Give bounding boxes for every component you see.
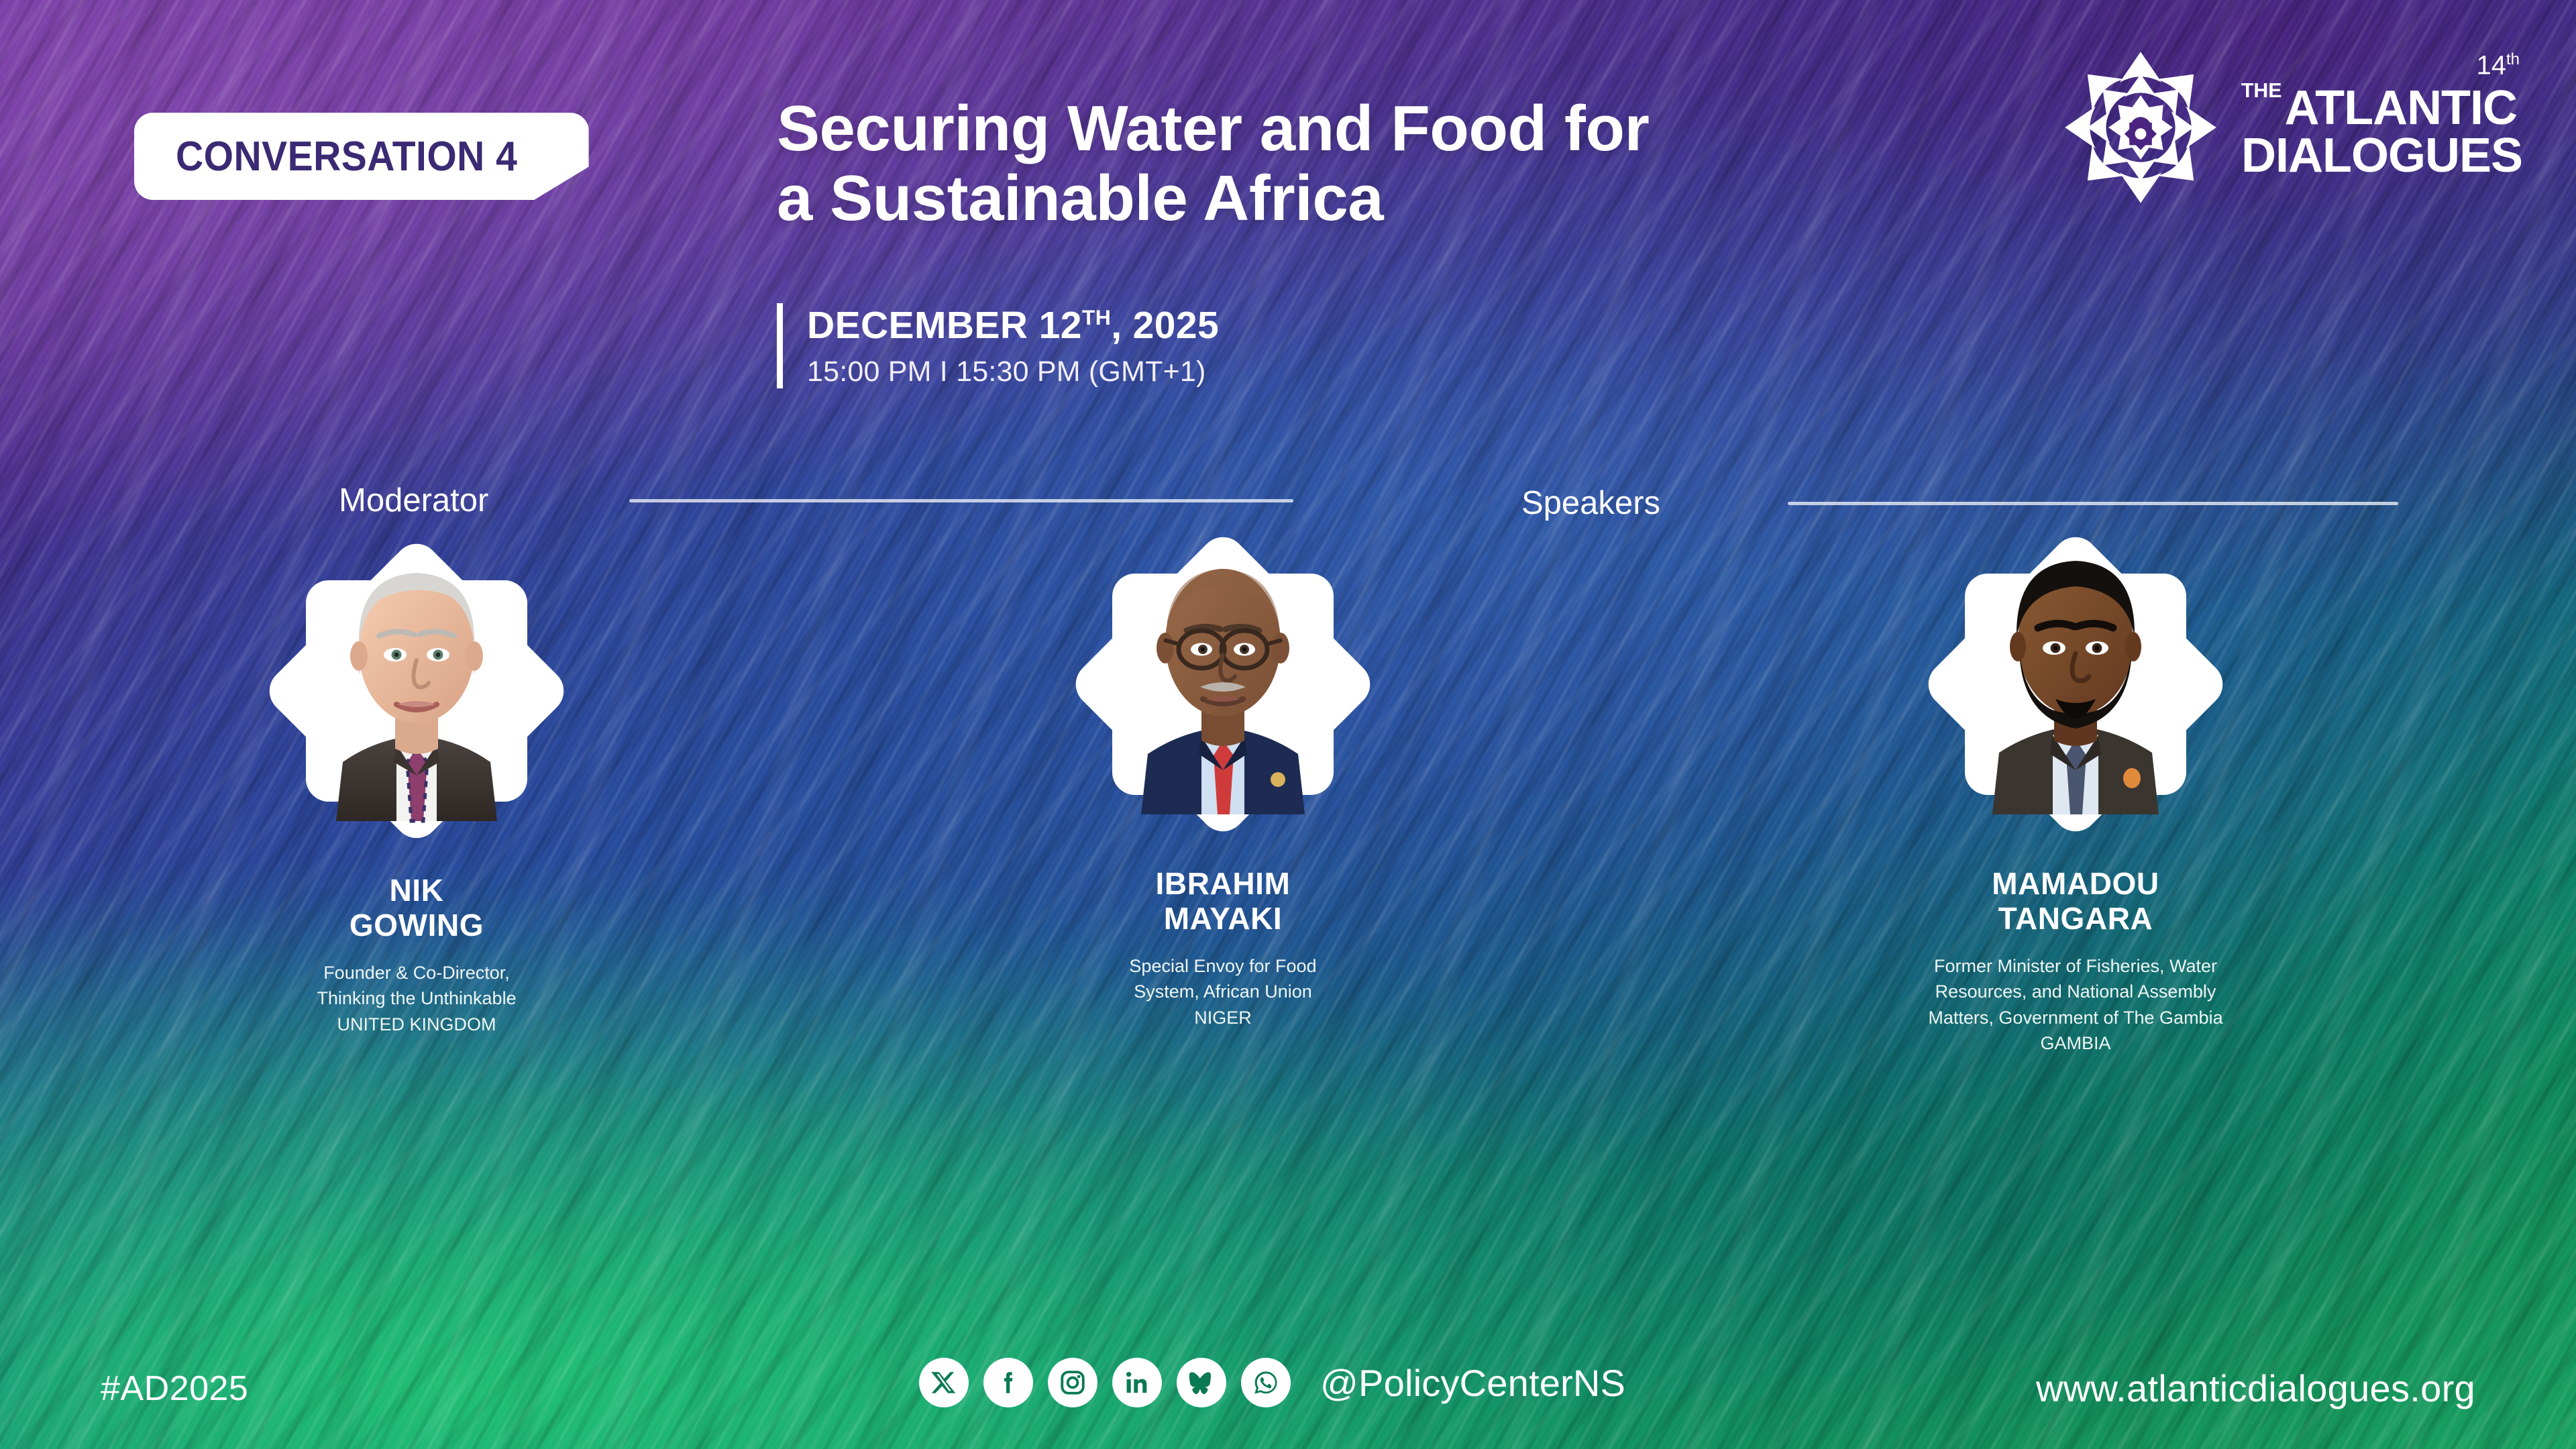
page-title: Securing Water and Food for a Sustainabl…: [777, 94, 1917, 233]
person-name: MAMADOU TANGARA: [1821, 867, 2330, 936]
poster-canvas: CONVERSATION 4 Securing Water and Food f…: [0, 0, 2576, 1449]
portrait-ibrahim-mayaki: [1102, 519, 1344, 814]
event-date-text: DECEMBER 12: [807, 304, 1082, 347]
conversation-badge-label: CONVERSATION 4: [176, 133, 517, 180]
person-role: Former Minister of Fisheries, WaterResou…: [1821, 953, 2330, 1056]
portrait-nik-gowing: [296, 526, 537, 821]
linkedin-icon[interactable]: [1112, 1358, 1162, 1407]
event-date-year: , 2025: [1111, 304, 1219, 347]
person-role: Founder & Co-Director,Thinking the Unthi…: [162, 960, 672, 1037]
portrait-frame: [1069, 530, 1377, 839]
person-role: Special Envoy for FoodSystem, African Un…: [968, 953, 1478, 1030]
person-last-name: GOWING: [162, 908, 672, 943]
event-time: 15:00 PM I 15:30 PM (GMT+1): [807, 356, 1219, 388]
portrait-frame: [1921, 530, 2230, 839]
logo-the: THE: [2241, 80, 2282, 102]
event-hashtag: #AD2025: [101, 1368, 248, 1409]
speakers-section-header: Speakers: [1521, 484, 2398, 522]
atlantic-dialogues-logo: 14th THEATLANTIC DIALOGUES: [2060, 47, 2522, 215]
logo-line-1: THEATLANTIC: [2241, 81, 2522, 131]
instagram-icon[interactable]: [1048, 1358, 1097, 1407]
title-line-2: a Sustainable Africa: [777, 164, 1917, 233]
person-card-speaker-2: MAMADOU TANGARA Former Minister of Fishe…: [1821, 530, 2330, 1056]
moderator-label: Moderator: [339, 482, 488, 519]
speakers-divider: [1788, 502, 2398, 505]
moderator-divider: [629, 499, 1293, 502]
title-line-1: Securing Water and Food for: [777, 94, 1917, 164]
social-handle[interactable]: @PolicyCenterNS: [1320, 1361, 1625, 1405]
website-url[interactable]: www.atlanticdialogues.org: [2036, 1366, 2475, 1410]
portrait-mamadou-tangara: [1955, 519, 2196, 814]
logo-line-2: DIALOGUES: [2241, 131, 2522, 180]
facebook-icon[interactable]: [983, 1358, 1033, 1407]
logo-atlantic: ATLANTIC: [2284, 81, 2517, 135]
person-first-name: IBRAHIM: [968, 867, 1478, 902]
person-first-name: MAMADOU: [1821, 867, 2330, 902]
conversation-badge: CONVERSATION 4: [134, 113, 589, 200]
portrait-frame: [262, 537, 571, 845]
moderator-section-header: Moderator: [339, 482, 1293, 519]
logo-edition-suffix: th: [2506, 50, 2520, 68]
logo-wordmark: 14th THEATLANTIC DIALOGUES: [2241, 81, 2522, 181]
atlantic-dialogues-mandala-icon: [2060, 47, 2221, 215]
person-last-name: TANGARA: [1821, 902, 2330, 936]
event-date: DECEMBER 12TH, 2025: [807, 303, 1219, 347]
whatsapp-icon[interactable]: [1241, 1358, 1291, 1407]
person-card-speaker-1: IBRAHIM MAYAKI Special Envoy for FoodSys…: [968, 530, 1478, 1030]
person-first-name: NIK: [162, 873, 672, 908]
person-name: IBRAHIM MAYAKI: [968, 867, 1478, 936]
social-links: @PolicyCenterNS: [919, 1358, 1625, 1407]
speakers-label: Speakers: [1521, 484, 1660, 522]
bluesky-icon[interactable]: [1177, 1358, 1226, 1407]
logo-edition-number: 14: [2476, 50, 2506, 80]
logo-edition-ordinal: 14th: [2476, 50, 2520, 80]
event-date-ordinal: TH: [1082, 305, 1111, 329]
x-icon[interactable]: [919, 1358, 969, 1407]
date-time-block: DECEMBER 12TH, 2025 15:00 PM I 15:30 PM …: [777, 303, 1219, 388]
person-card-moderator: NIK GOWING Founder & Co-Director,Thinkin…: [162, 537, 672, 1037]
person-last-name: MAYAKI: [968, 902, 1478, 936]
person-name: NIK GOWING: [162, 873, 672, 943]
